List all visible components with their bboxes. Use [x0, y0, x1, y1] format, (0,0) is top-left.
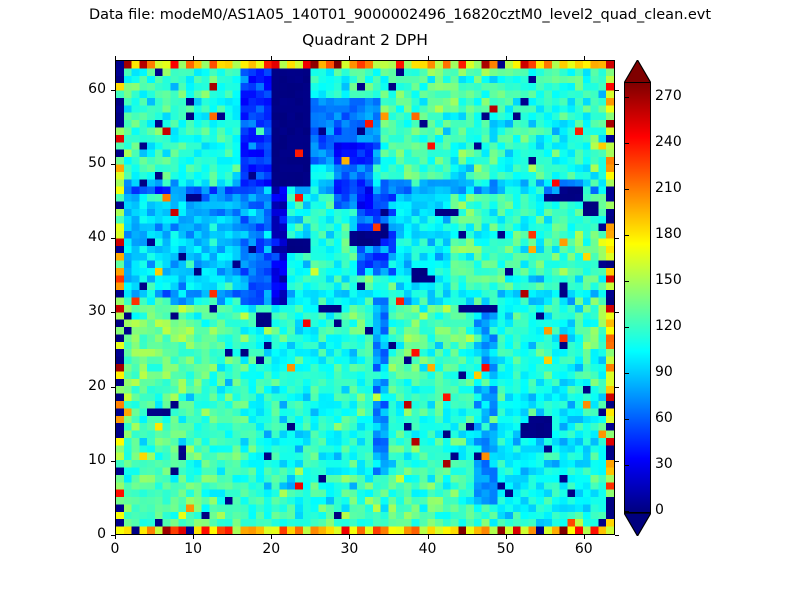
colorbar[interactable]: [624, 60, 651, 535]
colorbar-tick-label: 30: [655, 456, 673, 472]
y-tick-mark-right: [615, 535, 619, 536]
y-tick-mark: [111, 238, 115, 239]
x-tick-mark: [115, 535, 116, 539]
y-tick-label: 50: [66, 155, 106, 171]
x-tick-label: 30: [329, 541, 369, 557]
colorbar-extend-low-arrow: [624, 513, 651, 536]
x-tick-mark-top: [584, 56, 585, 60]
y-tick-mark: [111, 535, 115, 536]
y-tick-label: 60: [66, 81, 106, 97]
colorbar-tick-label: 180: [655, 226, 682, 242]
x-tick-label: 40: [408, 541, 448, 557]
x-tick-mark: [584, 535, 585, 539]
y-tick-label: 30: [66, 303, 106, 319]
y-tick-mark-right: [615, 387, 619, 388]
x-tick-label: 20: [251, 541, 291, 557]
colorbar-tick-label: 150: [655, 272, 682, 288]
x-tick-mark-top: [115, 56, 116, 60]
y-tick-mark: [111, 461, 115, 462]
x-tick-label: 50: [486, 541, 526, 557]
colorbar-tick-mark: [624, 143, 629, 144]
data-file-suptitle: Data file: modeM0/AS1A05_140T01_90000024…: [0, 7, 800, 23]
x-tick-mark: [506, 535, 507, 539]
colorbar-tick-mark: [624, 465, 629, 466]
chart-title: Quadrant 2 DPH: [115, 31, 615, 49]
y-tick-mark: [111, 387, 115, 388]
heatmap-axes[interactable]: [115, 60, 615, 535]
y-tick-mark: [111, 312, 115, 313]
colorbar-tick-mark: [624, 97, 629, 98]
y-tick-mark-right: [615, 461, 619, 462]
colorbar-gradient: [625, 83, 650, 512]
x-tick-mark: [428, 535, 429, 539]
y-tick-label: 0: [66, 526, 106, 542]
x-tick-mark-top: [349, 56, 350, 60]
y-tick-mark-right: [615, 312, 619, 313]
x-tick-mark-top: [193, 56, 194, 60]
x-tick-mark-top: [506, 56, 507, 60]
colorbar-tick-mark: [624, 235, 629, 236]
colorbar-gradient-body: [624, 82, 651, 513]
x-tick-label: 0: [95, 541, 135, 557]
colorbar-tick-mark: [624, 189, 629, 190]
colorbar-tick-mark: [624, 327, 629, 328]
y-tick-mark-right: [615, 90, 619, 91]
y-tick-mark: [111, 164, 115, 165]
colorbar-tick-label: 90: [655, 364, 673, 380]
colorbar-extend-high-arrow: [624, 60, 651, 83]
colorbar-tick-mark: [624, 419, 629, 420]
y-tick-mark-right: [615, 238, 619, 239]
y-tick-mark-right: [615, 164, 619, 165]
x-tick-label: 10: [173, 541, 213, 557]
x-tick-mark: [349, 535, 350, 539]
x-tick-mark: [271, 535, 272, 539]
colorbar-tick-mark: [624, 511, 629, 512]
x-tick-mark-top: [428, 56, 429, 60]
y-tick-label: 10: [66, 452, 106, 468]
colorbar-tick-label: 0: [655, 502, 664, 518]
colorbar-tick-label: 210: [655, 180, 682, 196]
colorbar-tick-mark: [624, 281, 629, 282]
colorbar-tick-label: 120: [655, 318, 682, 334]
y-tick-label: 20: [66, 378, 106, 394]
x-tick-mark-top: [271, 56, 272, 60]
colorbar-tick-label: 270: [655, 88, 682, 104]
colorbar-tick-label: 60: [655, 410, 673, 426]
colorbar-tick-mark: [624, 373, 629, 374]
y-tick-mark: [111, 90, 115, 91]
colorbar-tick-label: 240: [655, 134, 682, 150]
x-tick-label: 60: [564, 541, 604, 557]
y-tick-label: 40: [66, 229, 106, 245]
figure-canvas: Data file: modeM0/AS1A05_140T01_90000024…: [0, 0, 800, 600]
heatmap-image: [116, 61, 614, 534]
x-tick-mark: [193, 535, 194, 539]
